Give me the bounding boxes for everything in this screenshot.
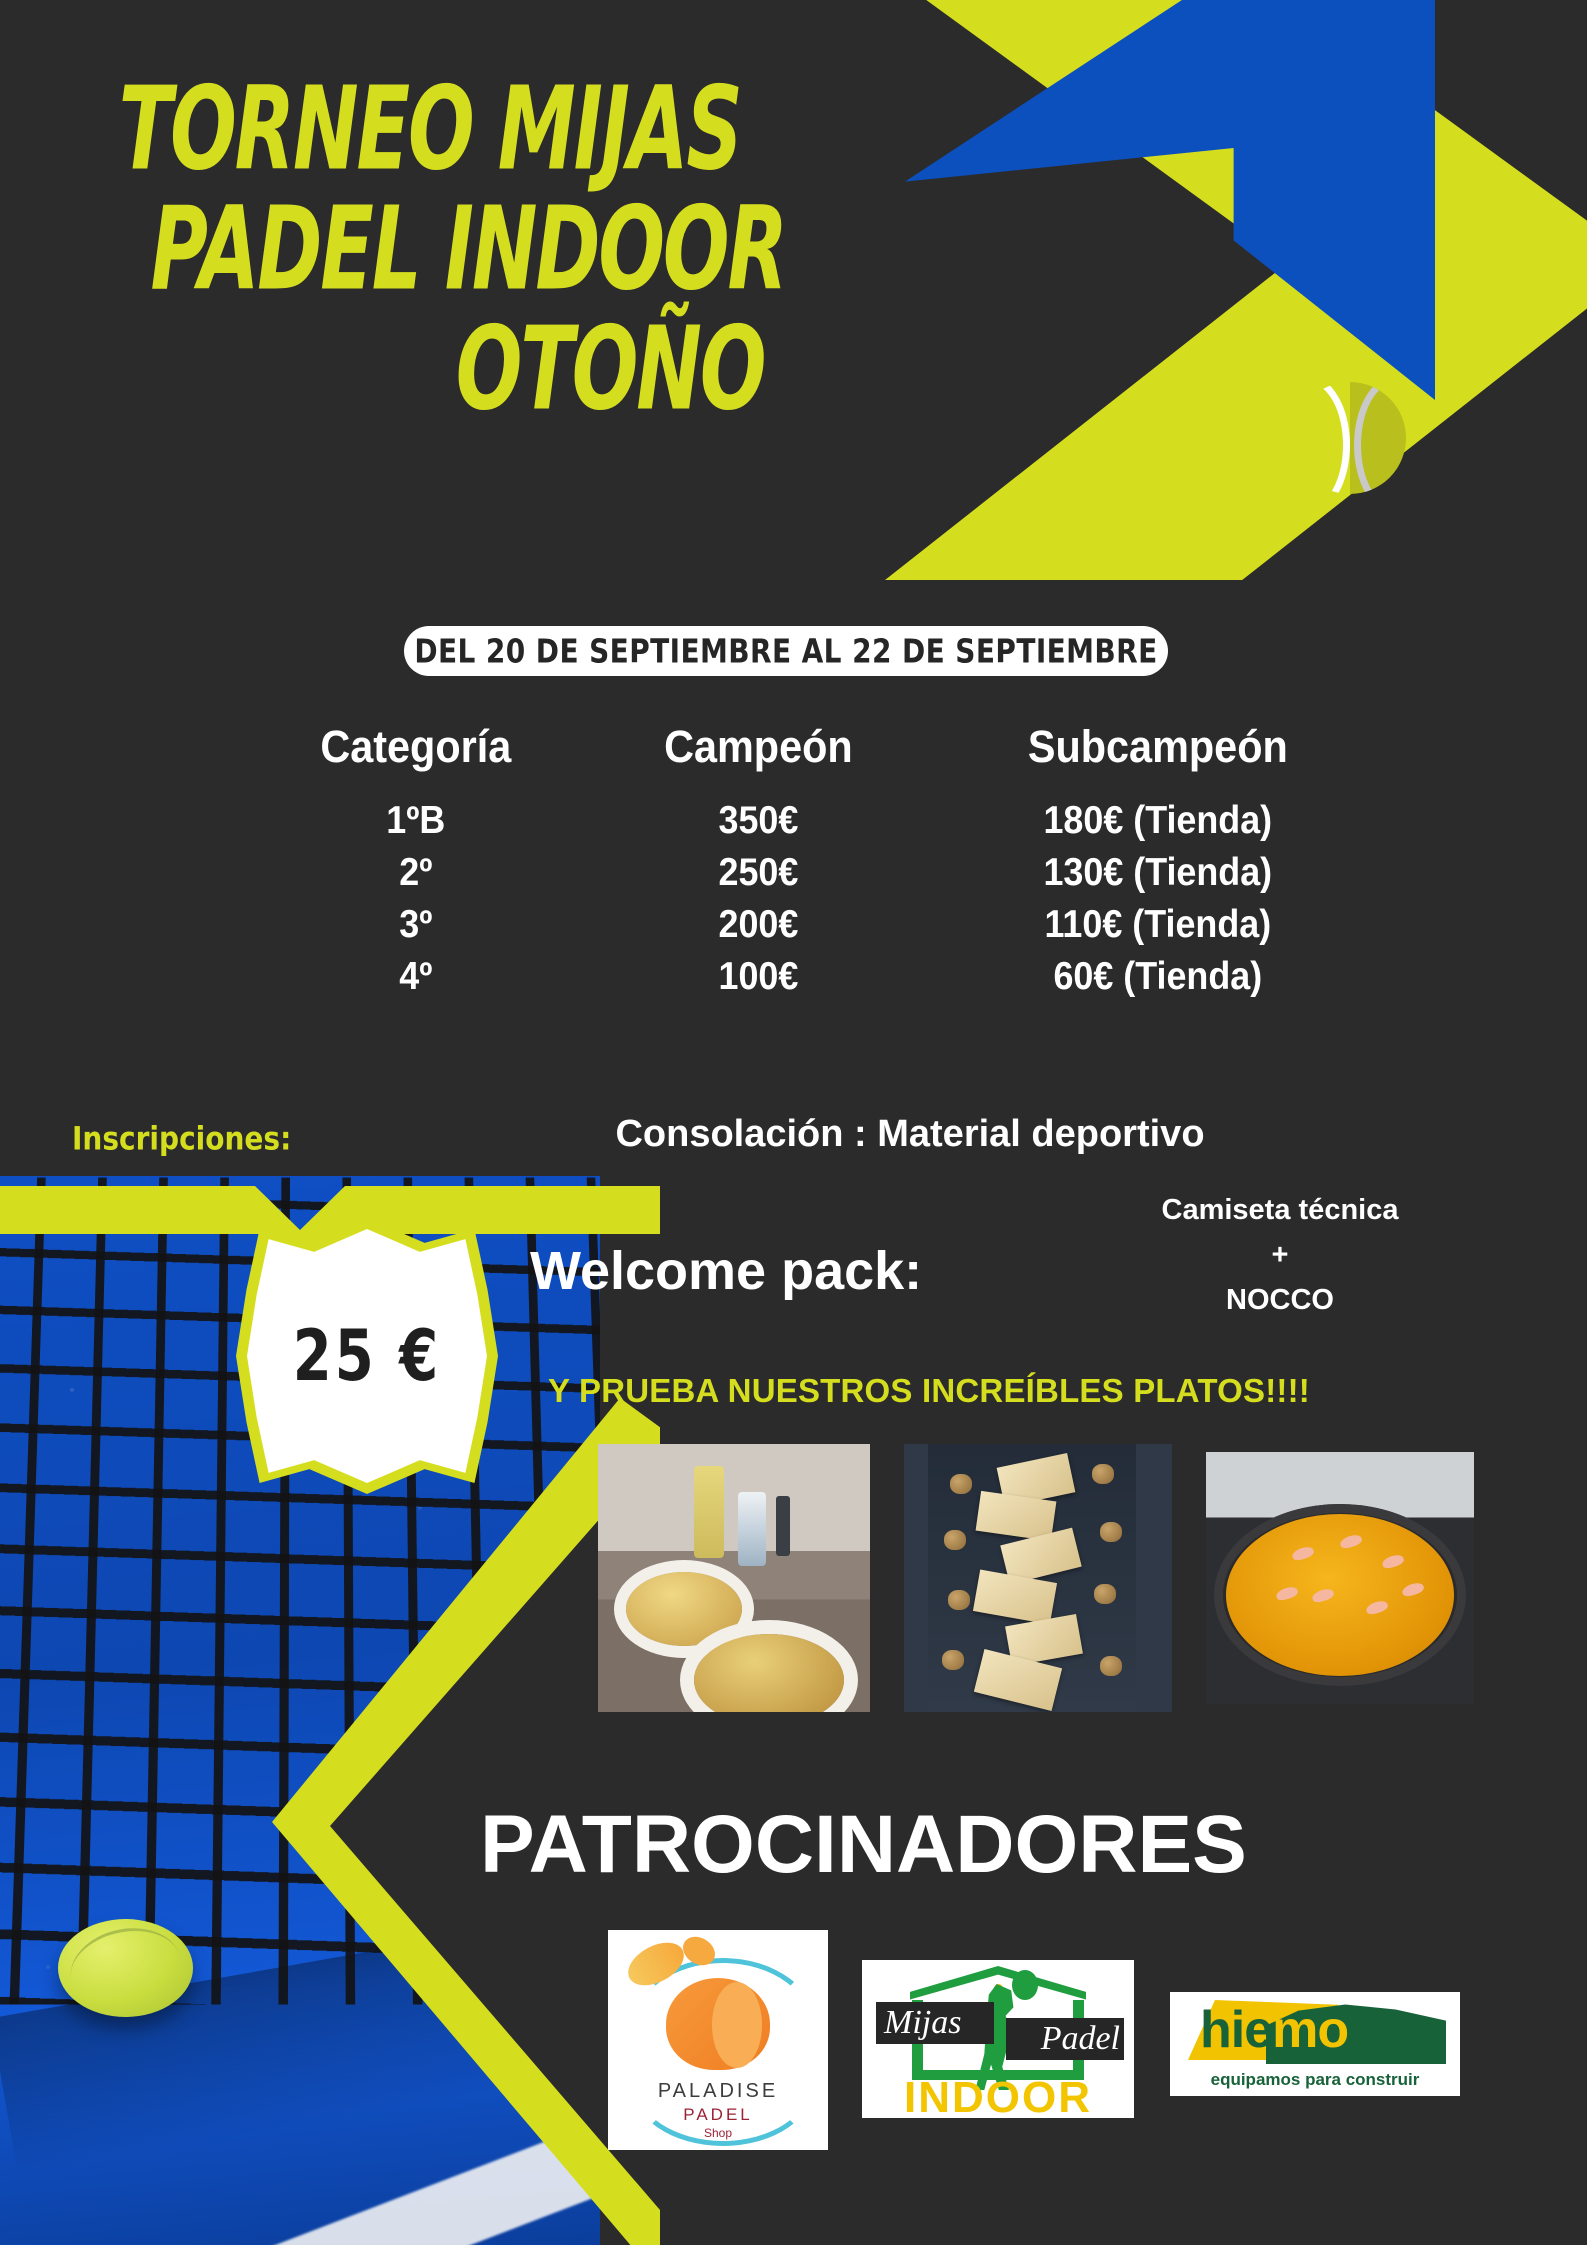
cell-subcampeon: 130€ (Tienda) xyxy=(939,847,1377,899)
cell-campeon: 100€ xyxy=(609,951,908,1003)
pack-plus-sign: + xyxy=(1085,1233,1475,1278)
poster-canvas: TORNEO MIJAS PADEL INDOOR OTOÑO DEL 20 D… xyxy=(0,0,1587,2245)
walnut xyxy=(948,1590,970,1610)
bottle-1 xyxy=(694,1466,724,1558)
cell-campeon: 250€ xyxy=(609,847,908,899)
walnut xyxy=(1094,1584,1116,1604)
paladise-padel: PADEL xyxy=(608,2105,828,2125)
welcome-pack-label: Welcome pack: xyxy=(530,1240,922,1302)
pack-item-shirt: Camiseta técnica xyxy=(1085,1188,1475,1233)
cell-campeon: 350€ xyxy=(609,795,908,847)
mijas-word: Mijas xyxy=(884,2004,961,2042)
welcome-pack-details: Camiseta técnica + NOCCO xyxy=(1085,1188,1475,1323)
cell-categoria: 3º xyxy=(250,899,581,951)
walnut xyxy=(942,1650,964,1670)
paladise-padel-shop-logo: PALADISE PADEL Shop xyxy=(608,1930,828,2150)
date-banner: DEL 20 DE SEPTIEMBRE AL 22 DE SEPTIEMBRE xyxy=(404,626,1168,676)
cheese-walnuts-photo xyxy=(904,1444,1172,1712)
paella-photo xyxy=(1206,1452,1474,1704)
column-header-campeon: Campeón xyxy=(609,720,908,795)
registration-price-badge: 25 € xyxy=(236,1218,498,1494)
registration-price: 25 € xyxy=(236,1184,498,1529)
bottle-2 xyxy=(738,1492,766,1566)
food-photo-row xyxy=(598,1444,1558,1712)
paladise-name: PALADISE xyxy=(608,2080,828,2103)
date-banner-text: DEL 20 DE SEPTIEMBRE AL 22 DE SEPTIEMBRE xyxy=(414,632,1157,671)
prize-table: Categoría Campeón Subcampeón 1ºB 350€ 18… xyxy=(236,720,1396,1003)
walnut xyxy=(1100,1656,1122,1676)
table-row: 4º 100€ 60€ (Tienda) xyxy=(236,951,1396,1003)
rice-surface xyxy=(1226,1514,1454,1676)
logo-orange-highlight xyxy=(712,1982,762,2068)
bottle-3 xyxy=(776,1496,790,1556)
title-line-1: TORNEO MIJAS xyxy=(0,77,1399,183)
hiemo-word-green: hie xyxy=(1200,2001,1272,2059)
cell-subcampeon: 110€ (Tienda) xyxy=(939,899,1377,951)
hiemo-tagline: equipamos para construir xyxy=(1170,2070,1460,2090)
sponsor-logo-row: PALADISE PADEL Shop Mijas Padel INDOOR h… xyxy=(600,1930,1560,2180)
consolation-note: Consolación : Material deportivo xyxy=(430,1113,1390,1156)
walnut xyxy=(944,1530,966,1550)
cell-campeon: 200€ xyxy=(609,899,908,951)
title-line-2: PADEL INDOOR xyxy=(0,197,1399,303)
table-header-row: Categoría Campeón Subcampeón xyxy=(236,720,1396,795)
tennis-ball-photo-icon xyxy=(58,1919,193,2017)
tortilla-1 xyxy=(626,1572,742,1646)
cell-categoria: 2º xyxy=(250,847,581,899)
cell-categoria: 1ºB xyxy=(250,795,581,847)
cell-subcampeon: 180€ (Tienda) xyxy=(939,795,1377,847)
table-row: 3º 200€ 110€ (Tienda) xyxy=(236,899,1396,951)
food-heading: Y PRUEBA NUESTROS INCREÍBLES PLATOS!!!! xyxy=(548,1372,1528,1410)
sponsors-heading: PATROCINADORES xyxy=(480,1798,1247,1892)
mijas-padel-indoor-logo: Mijas Padel INDOOR xyxy=(862,1960,1134,2118)
registration-label: Inscripciones: xyxy=(72,1120,291,1158)
hiemo-logo: hiemo equipamos para construir xyxy=(1170,1992,1460,2096)
hiemo-word-yellow: mo xyxy=(1272,2001,1348,2059)
walnut xyxy=(1100,1522,1122,1542)
pack-item-drink: NOCCO xyxy=(1085,1278,1475,1323)
tortilla-photo xyxy=(598,1444,870,1712)
table-row: 1ºB 350€ 180€ (Tienda) xyxy=(236,795,1396,847)
indoor-word: INDOOR xyxy=(862,2076,1134,2118)
table-row: 2º 250€ 130€ (Tienda) xyxy=(236,847,1396,899)
column-header-subcampeon: Subcampeón xyxy=(939,720,1377,795)
column-header-categoria: Categoría xyxy=(250,720,581,795)
hiemo-wordmark: hiemo xyxy=(1200,2004,1348,2056)
walnut xyxy=(1092,1464,1114,1484)
walnut xyxy=(950,1474,972,1494)
padel-word: Padel xyxy=(1041,2020,1120,2058)
paladise-shop: Shop xyxy=(608,2126,828,2140)
cell-categoria: 4º xyxy=(250,951,581,1003)
cell-subcampeon: 60€ (Tienda) xyxy=(939,951,1377,1003)
logo-racket xyxy=(1012,1970,1038,2000)
page-title: TORNEO MIJAS PADEL INDOOR OTOÑO xyxy=(0,96,1320,404)
title-line-3: OTOÑO xyxy=(0,317,1399,423)
